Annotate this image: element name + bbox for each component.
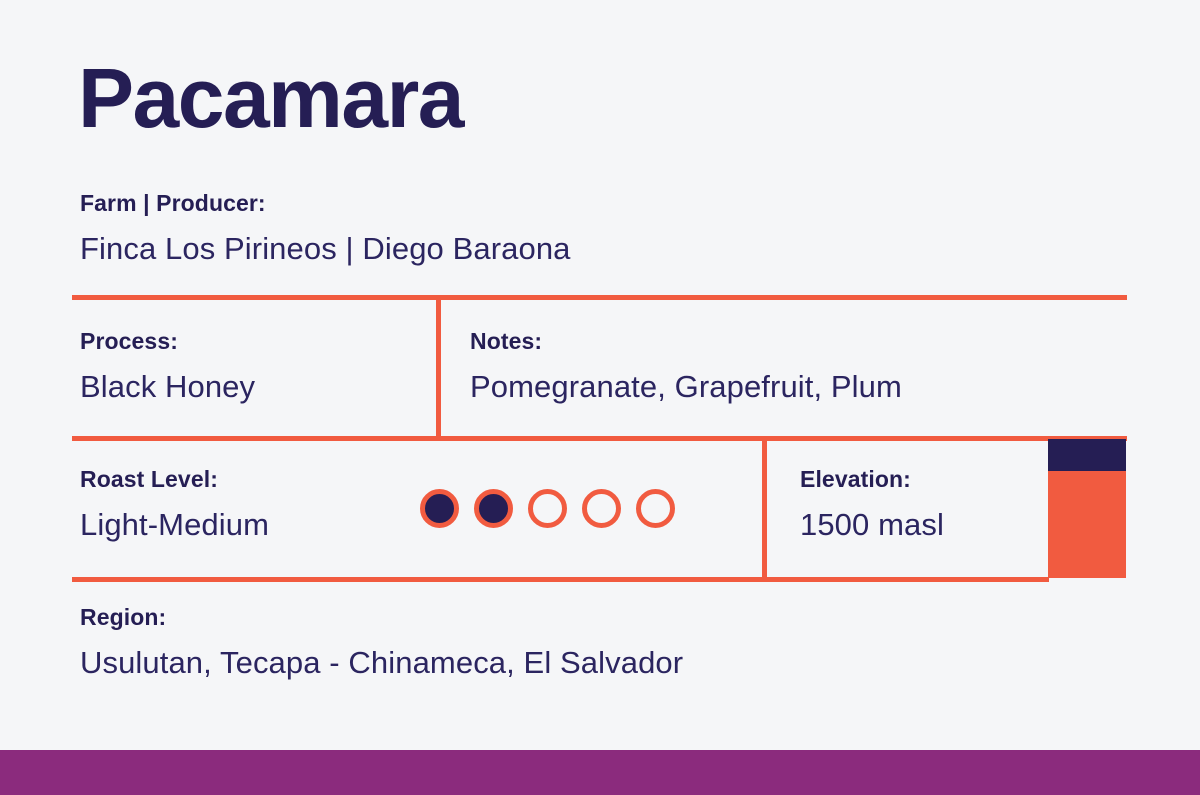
roast-level-label: Roast Level: <box>80 466 269 493</box>
region-label: Region: <box>80 604 683 631</box>
roast-dot <box>528 489 567 528</box>
elevation-value: 1500 masl <box>800 507 944 543</box>
roast-level-value: Light-Medium <box>80 507 269 543</box>
footer-accent-bar <box>0 750 1200 795</box>
divider-rule-middle <box>72 436 1127 441</box>
farm-producer-value: Finca Los Pirineos | Diego Baraona <box>80 231 571 267</box>
process-field: Process: Black Honey <box>80 328 255 405</box>
notes-value: Pomegranate, Grapefruit, Plum <box>470 369 902 405</box>
corner-color-block <box>1048 439 1126 578</box>
roast-dot <box>636 489 675 528</box>
divider-rule-top <box>72 295 1127 300</box>
farm-producer-field: Farm | Producer: Finca Los Pirineos | Di… <box>80 190 571 267</box>
elevation-label: Elevation: <box>800 466 944 493</box>
swatch-navy <box>1048 439 1126 471</box>
swatch-orange <box>1048 471 1126 578</box>
roast-level-indicator <box>420 489 675 528</box>
roast-dot <box>582 489 621 528</box>
elevation-field: Elevation: 1500 masl <box>800 466 944 543</box>
divider-vertical-roast-elevation <box>762 436 767 578</box>
region-value: Usulutan, Tecapa - Chinameca, El Salvado… <box>80 645 683 681</box>
notes-field: Notes: Pomegranate, Grapefruit, Plum <box>470 328 902 405</box>
process-value: Black Honey <box>80 369 255 405</box>
notes-label: Notes: <box>470 328 902 355</box>
divider-vertical-process-notes <box>436 295 441 437</box>
roast-dot <box>420 489 459 528</box>
process-label: Process: <box>80 328 255 355</box>
roast-level-field: Roast Level: Light-Medium <box>80 466 269 543</box>
page-title: Pacamara <box>78 56 463 140</box>
roast-dot <box>474 489 513 528</box>
farm-producer-label: Farm | Producer: <box>80 190 571 217</box>
divider-rule-bottom <box>72 577 1049 582</box>
region-field: Region: Usulutan, Tecapa - Chinameca, El… <box>80 604 683 681</box>
coffee-label-card: Pacamara Farm | Producer: Finca Los Piri… <box>0 0 1200 795</box>
